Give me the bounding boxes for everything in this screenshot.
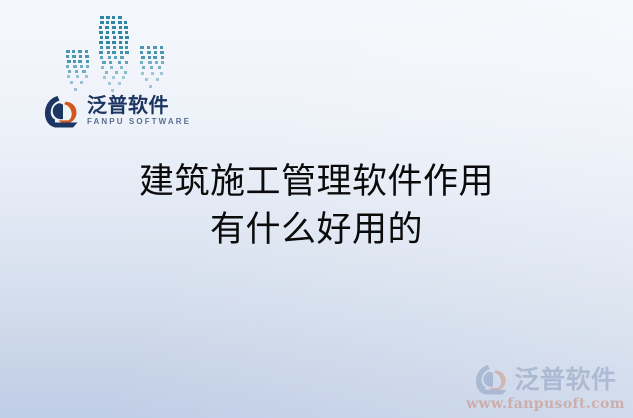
- headline-line-2: 有什么好用的: [0, 206, 633, 254]
- fanpu-logo-mark-icon: [44, 95, 82, 128]
- promo-banner: 泛普软件 FANPU SOFTWARE 建筑施工管理软件作用 有什么好用的 泛普…: [0, 0, 633, 418]
- brand-logo: 泛普软件 FANPU SOFTWARE: [44, 90, 191, 132]
- brand-name-en: FANPU SOFTWARE: [87, 116, 191, 128]
- pixel-city-skyline-graphic: [62, 12, 174, 98]
- brand-wordmark: 泛普软件 FANPU SOFTWARE: [87, 94, 191, 128]
- watermark-url: www.fanpusoft.com: [466, 396, 625, 412]
- page-title: 建筑施工管理软件作用 有什么好用的: [0, 158, 633, 254]
- watermark-brand-name: 泛普软件: [515, 366, 617, 394]
- watermark-logo-row: 泛普软件: [475, 364, 617, 395]
- brand-name-cn: 泛普软件: [87, 94, 191, 116]
- watermark: 泛普软件 www.fanpusoft.com: [466, 364, 625, 412]
- headline-line-1: 建筑施工管理软件作用: [0, 158, 633, 206]
- fanpu-logo-mark-watermark-icon: [475, 364, 511, 395]
